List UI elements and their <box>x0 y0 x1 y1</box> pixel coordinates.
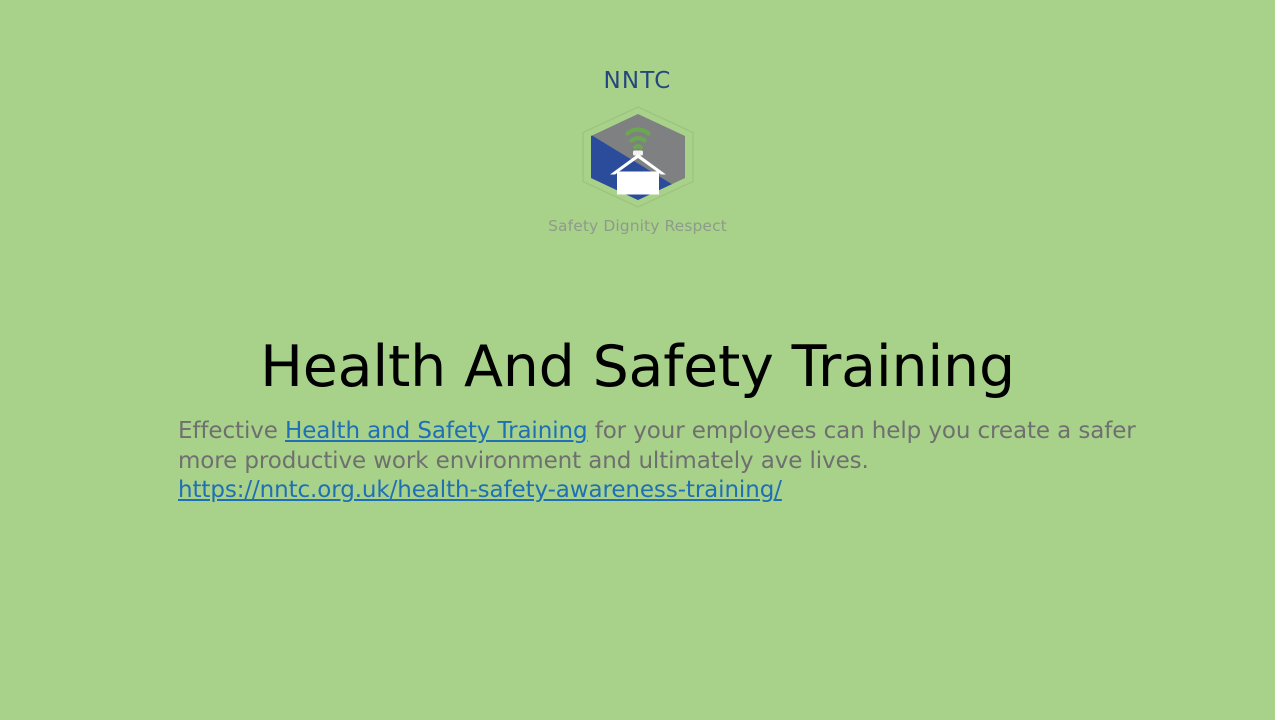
logo-mark <box>578 105 698 209</box>
logo-wordmark: NNTC <box>0 70 1275 93</box>
body-copy: Effective Health and Safety Training for… <box>178 417 1138 506</box>
canvas-right-edge <box>1275 0 1280 720</box>
body-text-prefix: Effective <box>178 418 285 444</box>
nntc-url-link[interactable]: https://nntc.org.uk/health-safety-awaren… <box>178 476 1138 506</box>
logo-tagline: Safety Dignity Respect <box>0 219 1275 235</box>
logo-block: NNTC <box>0 70 1275 240</box>
body-text-suffix: for your employees can help you create <box>587 418 1049 444</box>
slide-canvas: NNTC <box>0 0 1275 720</box>
page-title: Health And Safety Training <box>0 334 1275 401</box>
health-and-safety-training-link[interactable]: Health and Safety Training <box>285 418 587 444</box>
